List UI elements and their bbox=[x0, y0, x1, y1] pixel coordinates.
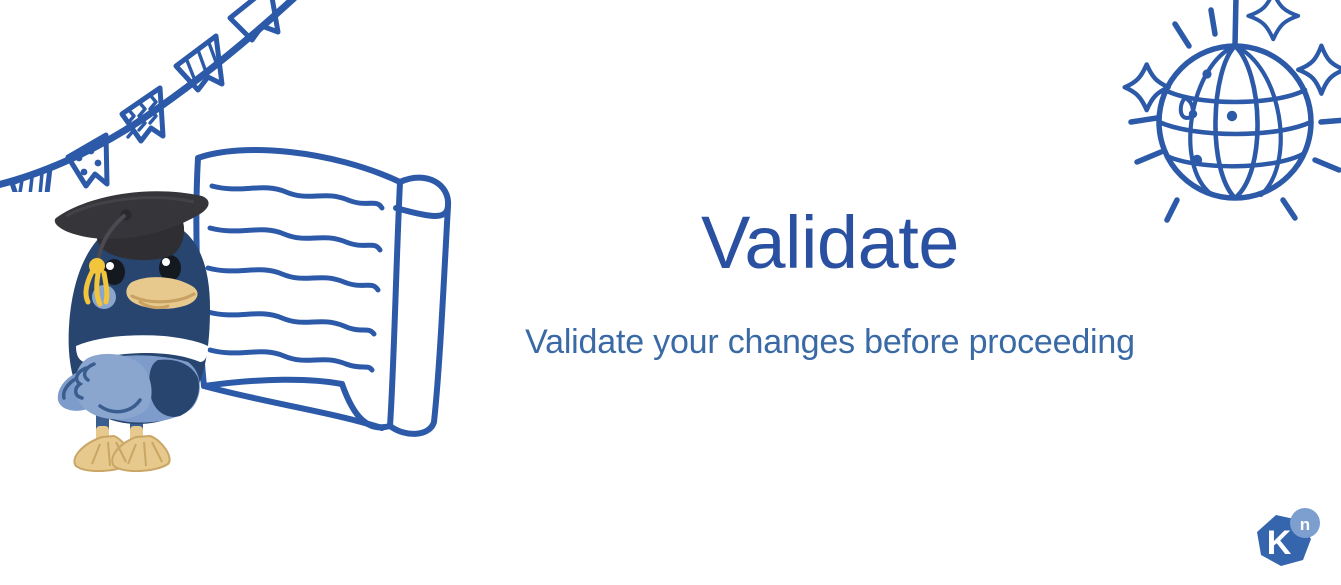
mascot-wing bbox=[75, 354, 152, 419]
splash-screen: Validate Validate your changes before pr… bbox=[0, 0, 1341, 585]
disco-ball-decoration bbox=[1115, 0, 1341, 226]
logo-superscript: n bbox=[1300, 515, 1310, 534]
page-title: Validate bbox=[462, 205, 1198, 280]
page-subtitle: Validate your changes before proceeding bbox=[462, 324, 1198, 361]
graduate-bird-mascot bbox=[52, 182, 237, 472]
logo-letter: K bbox=[1267, 524, 1292, 562]
headline-block: Validate Validate your changes before pr… bbox=[462, 205, 1198, 362]
brand-logo[interactable]: K n bbox=[1249, 505, 1323, 575]
mascot-illustration bbox=[52, 136, 462, 472]
